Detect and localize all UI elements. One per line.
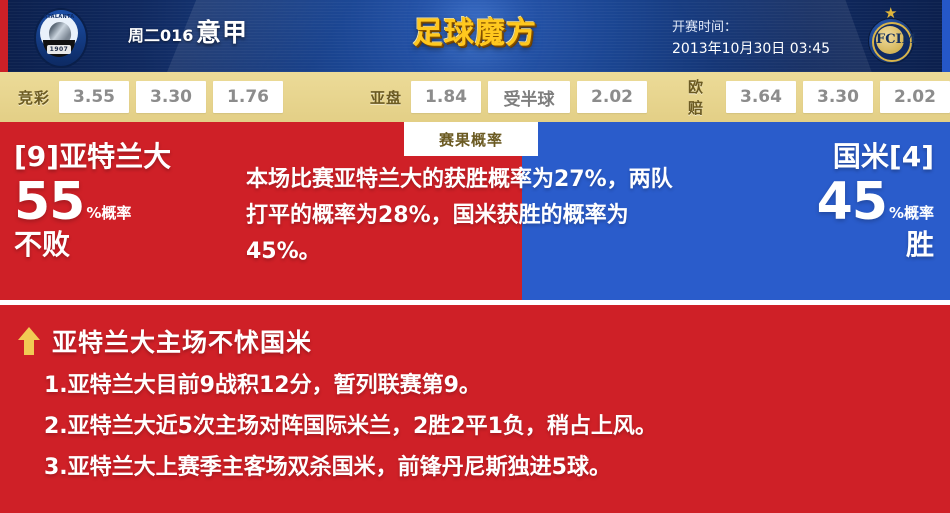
away-probability-block: 国米[4] 45 %概率 胜	[718, 140, 934, 261]
home-percent-row: 55 %概率	[14, 176, 230, 228]
home-percent-value: 55	[14, 176, 84, 228]
odds-value-away[interactable]: 1.76	[213, 81, 283, 113]
handicap-value-away[interactable]: 2.02	[577, 81, 647, 113]
euro-odds-draw[interactable]: 3.30	[803, 81, 873, 113]
odds-group-label: 竞彩	[18, 87, 52, 108]
list-item: 2.亚特兰大近5次主场对阵国际米兰，2胜2平1负，稍占上风。	[44, 406, 934, 447]
brand-text: 足球魔方	[413, 8, 537, 52]
tab-result-probability[interactable]: 赛果概率	[404, 122, 538, 156]
home-percent-suffix: %概率	[84, 206, 131, 228]
away-percent-value: 45	[817, 176, 887, 228]
odds-group-label: 欧赔	[688, 76, 719, 118]
tab-label: 赛果概率	[439, 129, 503, 150]
analysis-title: 亚特兰大主场不怵国米	[52, 323, 312, 359]
home-probability-block: [9]亚特兰大 55 %概率 不败	[14, 140, 230, 261]
probability-summary-text: 本场比赛亚特兰大的获胜概率为27%，两队打平的概率为28%，国米获胜的概率为45…	[246, 162, 694, 270]
list-item: 3.亚特兰大上赛季主客场双杀国米，前锋丹尼斯独进5球。	[44, 447, 934, 488]
match-preview-card: ATALANTA 1907 周二016 意甲 足球魔方 开赛时间： 2013年1…	[0, 0, 950, 513]
away-percent-suffix: %概率	[887, 206, 934, 228]
analysis-list: 1.亚特兰大目前9战积12分，暂列联赛第9。 2.亚特兰大近5次主场对阵国际米兰…	[44, 365, 934, 488]
crest-monogram: FCIM	[876, 26, 904, 54]
handicap-value-home[interactable]: 1.84	[411, 81, 481, 113]
analysis-header: 亚特兰大主场不怵国米	[18, 323, 312, 359]
away-percent-row: 45 %概率	[718, 176, 934, 228]
away-result-word: 胜	[718, 229, 934, 261]
odds-group-yapan: 亚盘 1.84 受半球 2.02	[370, 81, 647, 113]
euro-odds-home[interactable]: 3.64	[726, 81, 796, 113]
away-team-crest-icon: ★ FCIM	[860, 6, 920, 66]
away-team-name: 国米[4]	[718, 140, 934, 174]
odds-value-draw[interactable]: 3.30	[136, 81, 206, 113]
odds-bar: 竞彩 3.55 3.30 1.76 亚盘 1.84 受半球 2.02 欧赔 3.…	[0, 72, 950, 122]
header-bar: ATALANTA 1907 周二016 意甲 足球魔方 开赛时间： 2013年1…	[0, 0, 950, 72]
home-result-word: 不败	[14, 229, 230, 261]
odds-group-oupei: 欧赔 3.64 3.30 2.02	[688, 81, 950, 113]
handicap-line[interactable]: 受半球	[488, 81, 570, 113]
list-item: 1.亚特兰大目前9战积12分，暂列联赛第9。	[44, 365, 934, 406]
analysis-panel: 亚特兰大主场不怵国米 1.亚特兰大目前9战积12分，暂列联赛第9。 2.亚特兰大…	[0, 305, 950, 513]
home-team-name: [9]亚特兰大	[14, 140, 230, 174]
euro-odds-away[interactable]: 2.02	[880, 81, 950, 113]
arrow-up-icon	[18, 327, 40, 355]
kickoff-time: 2013年10月30日 03:45	[672, 38, 830, 58]
odds-group-label: 亚盘	[370, 87, 404, 108]
odds-group-jingcai: 竞彩 3.55 3.30 1.76	[18, 81, 283, 113]
probability-band: 赛果概率 [9]亚特兰大 55 %概率 不败 本场比赛亚特兰大的获胜概率为27%…	[0, 122, 950, 300]
odds-value-home[interactable]: 3.55	[59, 81, 129, 113]
kickoff-label: 开赛时间：	[672, 16, 737, 35]
